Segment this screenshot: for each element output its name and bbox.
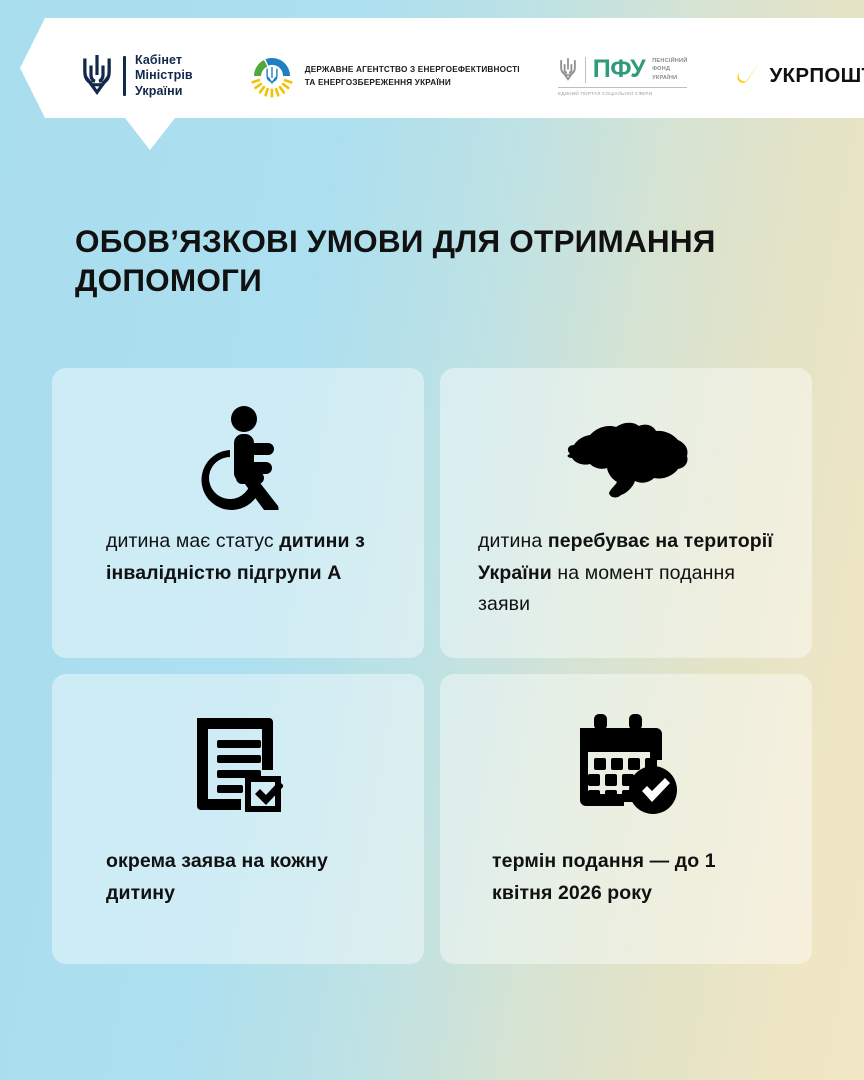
logo-divider: [123, 56, 126, 96]
card2-segment-0: дитина: [478, 530, 548, 552]
card-located-in-ukraine-text: дитина перебуває на території України на…: [440, 526, 812, 621]
card-submission-deadline-text: термін подання — до 1 квітня 2026 року: [440, 846, 812, 909]
pfu-abbreviation: ПФУ: [593, 57, 645, 82]
card-disability-status-text: дитина має статус дитини з інвалідністю …: [52, 526, 424, 589]
card-located-in-ukraine: дитина перебуває на території України на…: [440, 368, 812, 658]
card-submission-deadline: термін подання — до 1 квітня 2026 року: [440, 674, 812, 964]
card-disability-status: дитина має статус дитини з інвалідністю …: [52, 368, 424, 658]
card1-segment-0: дитина має статус: [106, 530, 279, 552]
poster-root: Кабінет Міністрів України: [0, 0, 864, 1080]
card4-segment-0: термін подання — до 1 квітня 2026 року: [492, 850, 716, 904]
page-title: ОБОВ’ЯЗКОВІ УМОВИ ДЛЯ ОТРИМАННЯ ДОПОМОГИ: [75, 222, 795, 299]
conditions-card-grid: дитина має статус дитини з інвалідністю …: [52, 368, 812, 964]
cmu-line-1: Кабінет: [135, 53, 193, 69]
pfu-full-name: ПЕНСІЙНИЙ ФОНД УКРАЇНИ: [652, 57, 687, 81]
card3-segment-0: окрема заява на кожну дитину: [106, 850, 328, 904]
document-checkbox-icon: [193, 704, 283, 824]
trident-icon: [558, 57, 578, 83]
saee-circle-icon: [248, 52, 296, 100]
cmu-line-3: України: [135, 84, 193, 100]
pfu-full-line-2: ФОНД: [652, 65, 687, 73]
card-separate-application: окрема заява на кожну дитину: [52, 674, 424, 964]
trident-icon: [80, 53, 114, 99]
logo-ukrposhta: УКРПОШТА: [735, 61, 864, 91]
wheelchair-accessibility-icon: [192, 398, 284, 518]
logo-cabinet-of-ministers: Кабінет Міністрів України: [80, 53, 193, 100]
calendar-check-icon: [574, 704, 678, 824]
pfu-divider: [585, 57, 586, 83]
logo-state-agency-energy-efficiency: ДЕРЖАВНЕ АГЕНТСТВО З ЕНЕРГОЕФЕКТИВНОСТІ …: [248, 52, 520, 100]
card-separate-application-text: окрема заява на кожну дитину: [52, 846, 424, 909]
header-logo-row: Кабінет Міністрів України: [0, 40, 864, 112]
saee-label: ДЕРЖАВНЕ АГЕНТСТВО З ЕНЕРГОЕФЕКТИВНОСТІ …: [305, 63, 520, 89]
cmu-line-2: Міністрів: [135, 68, 193, 84]
cabinet-of-ministers-label: Кабінет Міністрів України: [135, 53, 193, 100]
logo-pension-fund: ПФУ ПЕНСІЙНИЙ ФОНД УКРАЇНИ ЄДИНИЙ ПОРТАЛ…: [558, 57, 688, 96]
pfu-full-line-3: УКРАЇНИ: [652, 74, 687, 82]
saee-line-1: ДЕРЖАВНЕ АГЕНТСТВО З ЕНЕРГОЕФЕКТИВНОСТІ: [305, 63, 520, 76]
ukrposhta-mark-icon: [735, 61, 761, 91]
ukrposhta-label: УКРПОШТА: [769, 64, 864, 88]
ukraine-map-icon: [563, 398, 689, 518]
pfu-full-line-1: ПЕНСІЙНИЙ: [652, 57, 687, 65]
saee-line-2: ТА ЕНЕРГОЗБЕРЕЖЕННЯ УКРАЇНИ: [305, 76, 520, 89]
pfu-subtitle: ЄДИНИЙ ПОРТАЛ СОЦІАЛЬНОЇ СФЕРИ: [558, 91, 688, 96]
pfu-top-row: ПФУ ПЕНСІЙНИЙ ФОНД УКРАЇНИ: [558, 57, 688, 88]
